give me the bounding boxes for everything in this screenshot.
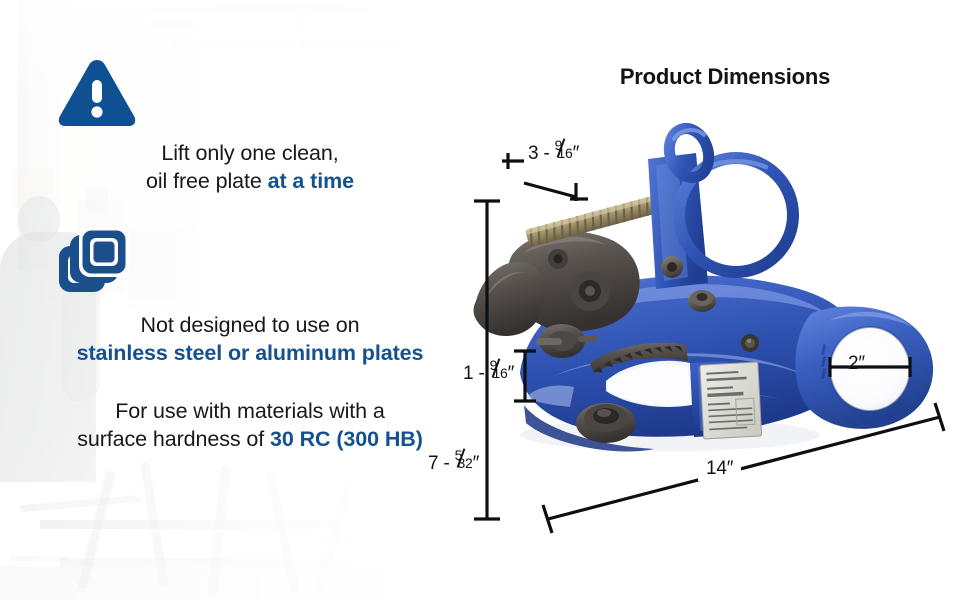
fraction-9-16: 9 16 <box>490 364 508 379</box>
feature-line2-highlight: at a time <box>268 169 354 193</box>
dimension-label-jaw-opening: 1 - 9 16 ″ <box>463 363 514 385</box>
dimension-label-jaw-reach: 3 - 9 16 ″ <box>528 143 579 165</box>
stacked-plates-icon <box>55 222 445 302</box>
fraction-9-16: 9 16 <box>555 144 573 159</box>
feature-not-stainless-aluminum: Not designed to use on stainless steel o… <box>55 222 445 368</box>
feature-line2-highlight: stainless steel or aluminum plates <box>77 341 424 365</box>
product-illustration <box>440 105 970 555</box>
product-dimension-diagram: 3 - 9 16 ″ 1 - 9 16 ″ 7 - 5 32 ″ 14 <box>440 105 970 555</box>
feature-line2-plain: surface hardness of <box>77 427 270 451</box>
warning-triangle-icon <box>55 56 445 130</box>
hex-bolt-top <box>688 290 716 312</box>
nameplate <box>700 362 762 439</box>
feature-text: Not designed to use on stainless steel o… <box>55 312 445 368</box>
feature-line2-plain: oil free plate <box>146 169 268 193</box>
dimension-label-height: 7 - 5 32 ″ <box>425 451 482 477</box>
page-title: Product Dimensions <box>560 64 890 90</box>
cam-lobe <box>474 262 545 336</box>
dimension-label-length: 14″ <box>698 457 741 481</box>
feature-line2-highlight: 30 RC (300 HB) <box>270 427 423 451</box>
body-screw <box>741 334 759 352</box>
feature-line1: Lift only one clean, <box>161 141 338 165</box>
clamp-product <box>474 123 934 451</box>
dimension-label-eye-diameter: 2″ <box>848 353 865 375</box>
infographic-canvas: Lift only one clean, oil free plate at a… <box>0 0 970 600</box>
feature-text: Lift only one clean, oil free plate at a… <box>55 140 445 196</box>
dimline-jaw-reach-leader <box>524 183 576 197</box>
feature-text: For use with materials with a surface ha… <box>55 398 445 454</box>
feature-surface-hardness: For use with materials with a surface ha… <box>55 398 445 454</box>
feature-line1: For use with materials with a <box>115 399 385 423</box>
feature-list: Lift only one clean, oil free plate at a… <box>55 56 445 454</box>
feature-lift-one-plate: Lift only one clean, oil free plate at a… <box>55 56 445 196</box>
feature-line1: Not designed to use on <box>141 313 360 337</box>
fraction-5-32: 5 32 <box>455 454 473 469</box>
base-boss <box>576 403 636 443</box>
